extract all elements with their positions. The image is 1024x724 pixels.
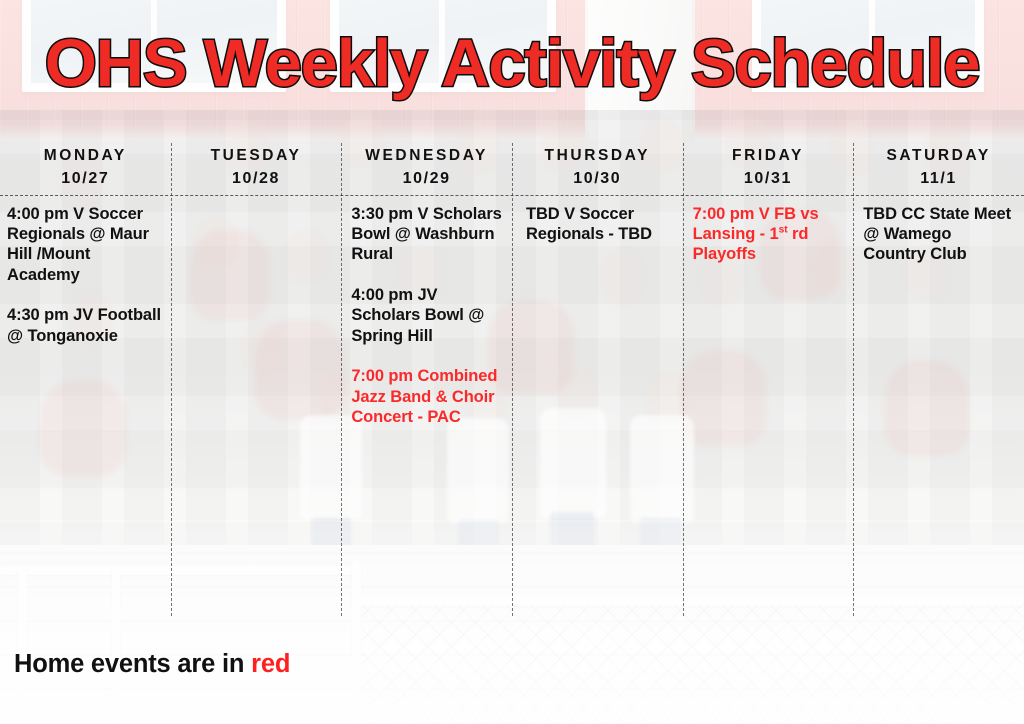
event-item: 4:00 pm JV Scholars Bowl @ Spring Hill xyxy=(351,285,504,346)
page-title: OHS Weekly Activity Schedule xyxy=(0,30,1024,97)
day-name: WEDNESDAY xyxy=(341,146,512,167)
day-column-wednesday: WEDNESDAY 10/29 3:30 pm V Scholars Bowl … xyxy=(341,143,512,623)
day-name: TUESDAY xyxy=(171,146,342,167)
legend-note: Home events are in red xyxy=(14,650,290,679)
day-name: THURSDAY xyxy=(512,146,683,167)
event-item: 4:00 pm V Soccer Regionals @ Maur Hill /… xyxy=(7,204,163,286)
event-item-home: 7:00 pm V FB vs Lansing - 1st rd Playoff… xyxy=(693,204,846,265)
day-column-monday: MONDAY 10/27 4:00 pm V Soccer Regionals … xyxy=(0,143,171,623)
event-item: 3:30 pm V Scholars Bowl @ Washburn Rural xyxy=(351,204,504,265)
day-header-monday: MONDAY 10/27 xyxy=(0,143,171,190)
day-column-thursday: THURSDAY 10/30 TBD V Soccer Regionals - … xyxy=(512,143,683,623)
day-events-saturday: TBD CC State Meet @ Wamego Country Club xyxy=(853,190,1024,265)
day-header-friday: FRIDAY 10/31 xyxy=(683,143,854,190)
weekly-activity-schedule-poster: OHS Weekly Activity Schedule MONDAY 10/2… xyxy=(0,0,1024,724)
event-item: TBD V Soccer Regionals - TBD xyxy=(526,204,675,245)
day-date: 10/29 xyxy=(341,168,512,190)
day-date: 10/30 xyxy=(512,168,683,190)
day-date: 11/1 xyxy=(853,168,1024,190)
event-item: 4:30 pm JV Football @ Tonganoxie xyxy=(7,305,163,346)
day-header-saturday: SATURDAY 11/1 xyxy=(853,143,1024,190)
day-events-wednesday: 3:30 pm V Scholars Bowl @ Washburn Rural… xyxy=(341,190,512,428)
day-events-thursday: TBD V Soccer Regionals - TBD xyxy=(512,190,683,245)
day-name: FRIDAY xyxy=(683,146,854,167)
event-item: TBD CC State Meet @ Wamego Country Club xyxy=(863,204,1016,265)
event-item-home: 7:00 pm Combined Jazz Band & Choir Conce… xyxy=(351,366,504,427)
schedule-grid: MONDAY 10/27 4:00 pm V Soccer Regionals … xyxy=(0,143,1024,623)
legend-text: Home events are in xyxy=(14,650,251,678)
day-events-tuesday xyxy=(171,190,342,204)
day-name: SATURDAY xyxy=(853,146,1024,167)
day-column-friday: FRIDAY 10/31 7:00 pm V FB vs Lansing - 1… xyxy=(683,143,854,623)
day-header-tuesday: TUESDAY 10/28 xyxy=(171,143,342,190)
day-date: 10/27 xyxy=(0,168,171,190)
day-events-monday: 4:00 pm V Soccer Regionals @ Maur Hill /… xyxy=(0,190,171,347)
day-header-wednesday: WEDNESDAY 10/29 xyxy=(341,143,512,190)
legend-highlight-red: red xyxy=(251,650,290,678)
day-name: MONDAY xyxy=(0,146,171,167)
day-date: 10/28 xyxy=(171,168,342,190)
day-header-thursday: THURSDAY 10/30 xyxy=(512,143,683,190)
day-date: 10/31 xyxy=(683,168,854,190)
day-events-friday: 7:00 pm V FB vs Lansing - 1st rd Playoff… xyxy=(683,190,854,265)
day-column-saturday: SATURDAY 11/1 TBD CC State Meet @ Wamego… xyxy=(853,143,1024,623)
ordinal-superscript: st xyxy=(779,224,788,235)
day-column-tuesday: TUESDAY 10/28 xyxy=(171,143,342,623)
